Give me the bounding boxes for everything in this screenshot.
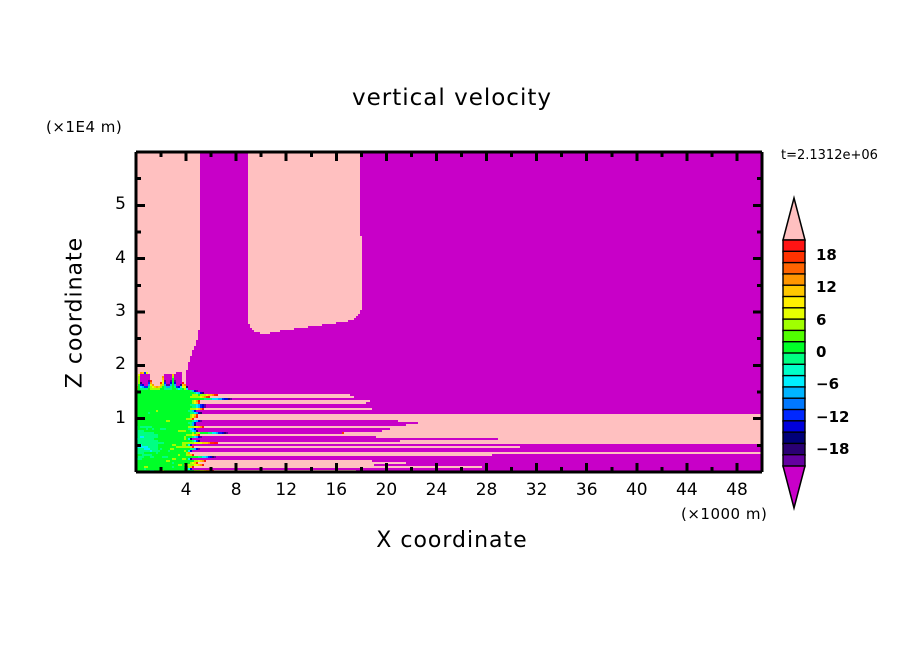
colorbar-tick-label: −18 <box>816 440 849 458</box>
colorbar-label-group: 181260−6−12−18 <box>0 0 904 654</box>
colorbar-tick-label: −6 <box>816 375 839 393</box>
colorbar-tick-label: 6 <box>816 311 826 329</box>
figure-canvas: vertical velocity (×1E4 m) t=2.1312e+06 … <box>0 0 904 654</box>
colorbar-tick-label: 12 <box>816 278 837 296</box>
colorbar-tick-label: 18 <box>816 246 837 264</box>
colorbar-tick-label: 0 <box>816 343 826 361</box>
colorbar-tick-label: −12 <box>816 408 849 426</box>
